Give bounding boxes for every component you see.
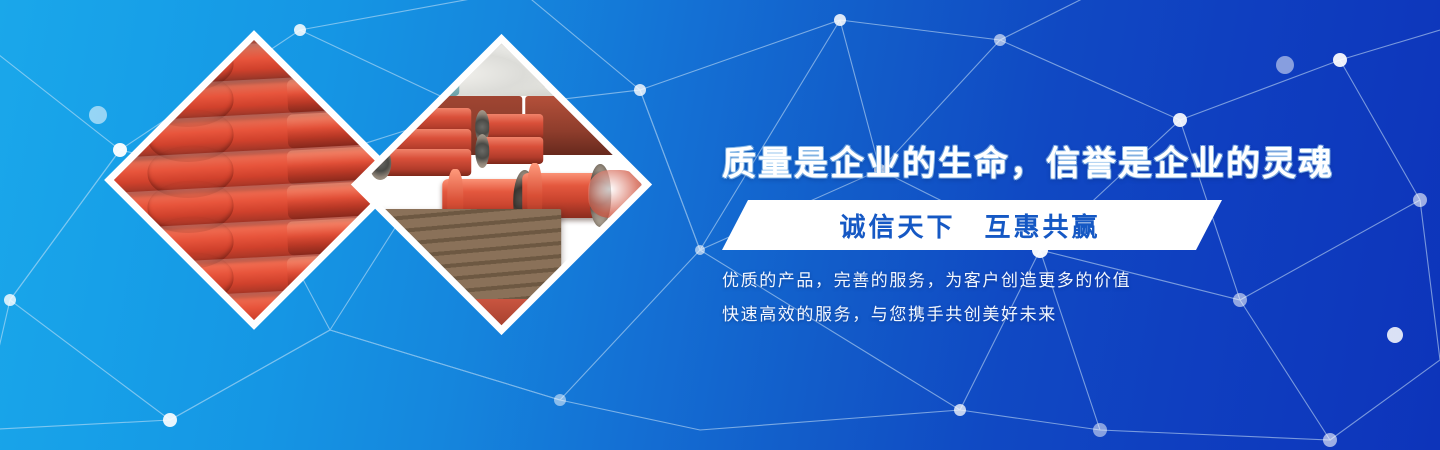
banner-headline: 质量是企业的生命，信誉是企业的灵魂: [722, 136, 1334, 185]
product-image-2-frame: [361, 44, 642, 325]
slogan-banner-bar: 诚信天下 互惠共赢: [722, 200, 1222, 250]
slogan-text: 诚信天下 互惠共赢: [839, 207, 1100, 244]
product-image-warehouse-pallets[interactable]: [351, 34, 652, 335]
product-image-1-frame: [114, 40, 394, 320]
banner-subline-1: 优质的产品，完善的服务，为客户创造更多的价值: [722, 266, 1131, 291]
product-photo-pallet-shafts: [361, 44, 642, 325]
promo-banner: 质量是企业的生命，信誉是企业的灵魂 诚信天下 互惠共赢 优质的产品，完善的服务，…: [0, 0, 1440, 450]
product-photo-red-shaft-rows: [114, 40, 394, 320]
banner-subline-2: 快速高效的服务，与您携手共创美好未来: [722, 300, 1057, 325]
